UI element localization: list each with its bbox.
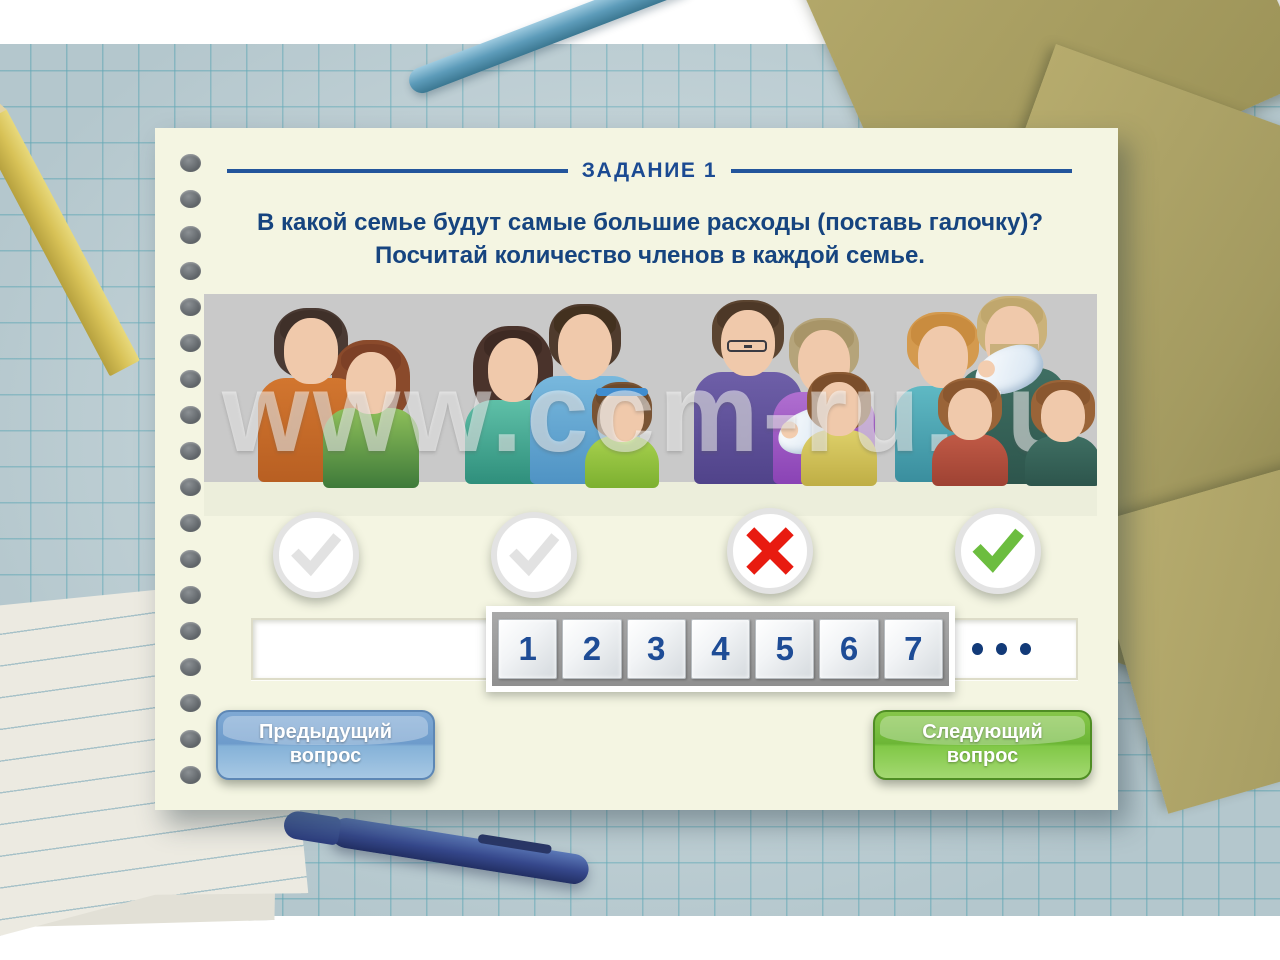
binder-hole [180,262,201,280]
person-child [583,378,661,482]
family-group-3 [676,294,896,482]
binder-hole [180,226,201,244]
answer-badge-2[interactable] [491,512,577,598]
cross-icon [743,524,797,578]
task-label: ЗАДАНИЕ 1 [582,159,717,183]
previous-button-line-1: Предыдущий [218,721,433,745]
binder-hole [180,334,201,352]
torso [1025,436,1097,486]
binder-hole [180,550,201,568]
heading-rule-right [731,169,1072,173]
heading-rule-left [227,169,568,173]
binder-hole [180,478,201,496]
head [948,388,992,440]
answer-badge-4[interactable] [955,508,1041,594]
torso [932,434,1008,486]
family-group-1 [244,294,434,482]
question-text: В какой семье будут самые большие расход… [215,206,1085,272]
head [600,390,644,442]
family-group-4 [896,294,1097,482]
families-illustration: www.ccm-ru.ru [204,294,1097,516]
previous-question-button[interactable]: Предыдущий вопрос [216,710,435,780]
family-group-2 [454,294,669,482]
number-tile-1[interactable]: 1 [498,619,557,679]
binder-hole [180,442,201,460]
binder-hole [180,190,201,208]
question-line-1: В какой семье будут самые большие расход… [215,206,1085,239]
person-child-left [932,376,1007,482]
next-button-line-2: вопрос [875,745,1090,769]
next-button-line-1: Следующий [875,721,1090,745]
glasses-icon [727,340,767,352]
torso [323,408,419,488]
placeholder-dot [996,643,1007,655]
next-question-button[interactable]: Следующий вопрос [873,710,1092,780]
headband-icon [596,388,648,396]
task-card: ЗАДАНИЕ 1 В какой семье будут самые боль… [155,128,1118,810]
check-icon [507,528,561,582]
question-line-2: Посчитай количество членов в каждой семь… [215,239,1085,272]
binder-hole [180,514,201,532]
placeholder-dot [972,643,983,655]
number-tray: 1 2 3 4 5 6 7 [486,606,955,692]
task-heading: ЗАДАНИЕ 1 [227,154,1072,188]
torso [585,436,659,488]
binder-hole [180,298,201,316]
answer-badge-1[interactable] [273,512,359,598]
head [284,318,338,384]
check-icon [289,528,343,582]
torso [801,430,877,486]
binder-hole [180,622,201,640]
number-tile-5[interactable]: 5 [755,619,814,679]
binder-hole [180,586,201,604]
head [1041,390,1085,442]
number-tile-6[interactable]: 6 [819,619,878,679]
screenshot-stage: ЗАДАНИЕ 1 В какой семье будут самые боль… [0,0,1280,960]
number-tile-4[interactable]: 4 [691,619,750,679]
number-tile-3[interactable]: 3 [627,619,686,679]
binder-hole [180,370,201,388]
previous-button-line-2: вопрос [218,745,433,769]
binder-hole [180,658,201,676]
placeholder-dot [1020,643,1031,655]
head [488,338,538,402]
check-icon [971,524,1025,578]
binder-hole [180,406,201,424]
binder-hole [180,766,201,784]
person-child [799,370,879,482]
binder-hole [180,730,201,748]
head [346,352,396,414]
number-tray-inner: 1 2 3 4 5 6 7 [492,612,949,686]
binder-holes [173,154,207,784]
binder-hole [180,694,201,712]
head [817,382,861,436]
answer-badge-3[interactable] [727,508,813,594]
binder-hole [180,154,201,172]
number-tile-2[interactable]: 2 [562,619,621,679]
number-tile-7[interactable]: 7 [884,619,943,679]
person-child-right [1026,378,1097,482]
head [558,314,612,380]
